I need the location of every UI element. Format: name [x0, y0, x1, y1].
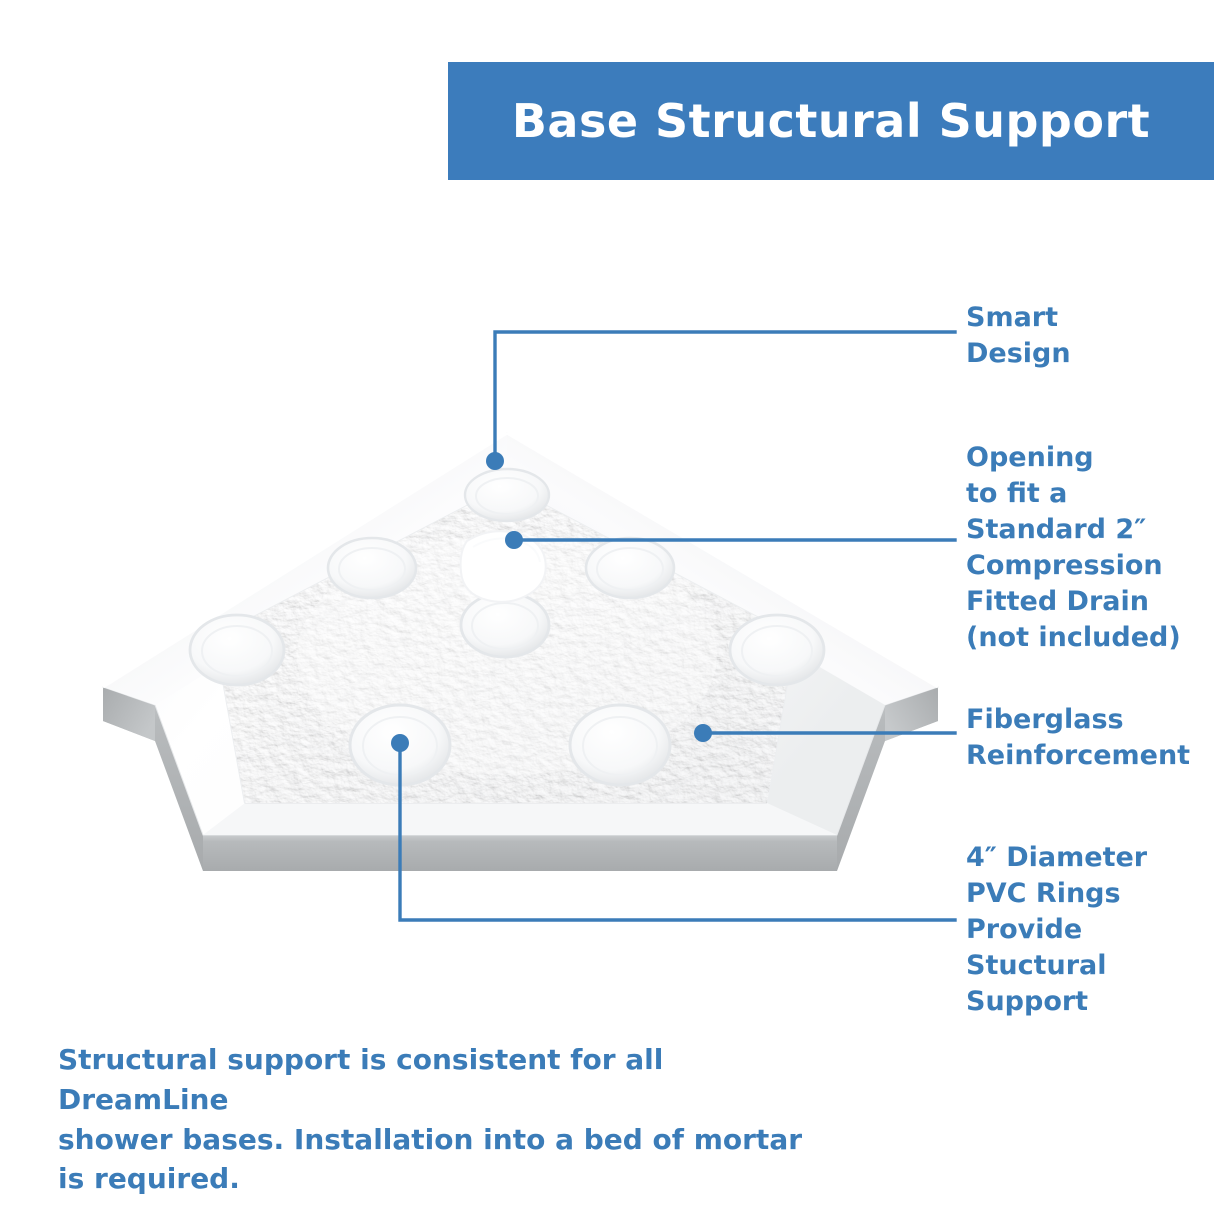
callout-label-fiberglass-reinforcement: Fiberglass Reinforcement — [966, 702, 1190, 774]
pvc-ring — [570, 705, 670, 785]
footer-note: Structural support is consistent for all… — [58, 1040, 838, 1199]
product-illustration — [95, 405, 975, 885]
pvc-ring — [328, 538, 416, 598]
pvc-ring — [465, 469, 549, 521]
drain-opening — [461, 531, 546, 602]
page-title: Base Structural Support — [512, 94, 1150, 148]
header-banner: Base Structural Support — [448, 62, 1214, 180]
callout-label-smart-design: Smart Design — [966, 300, 1071, 372]
pvc-ring — [190, 615, 284, 685]
pvc-ring — [730, 615, 824, 685]
callout-label-pvc-rings: 4″ Diameter PVC Rings Provide Stuctural … — [966, 840, 1147, 1020]
callout-label-drain-opening: Opening to fit a Standard 2″ Compression… — [966, 440, 1181, 655]
pvc-ring — [586, 538, 674, 598]
infographic-page: Base Structural Support Smart Design Ope… — [0, 0, 1214, 1214]
pvc-ring — [350, 705, 450, 785]
